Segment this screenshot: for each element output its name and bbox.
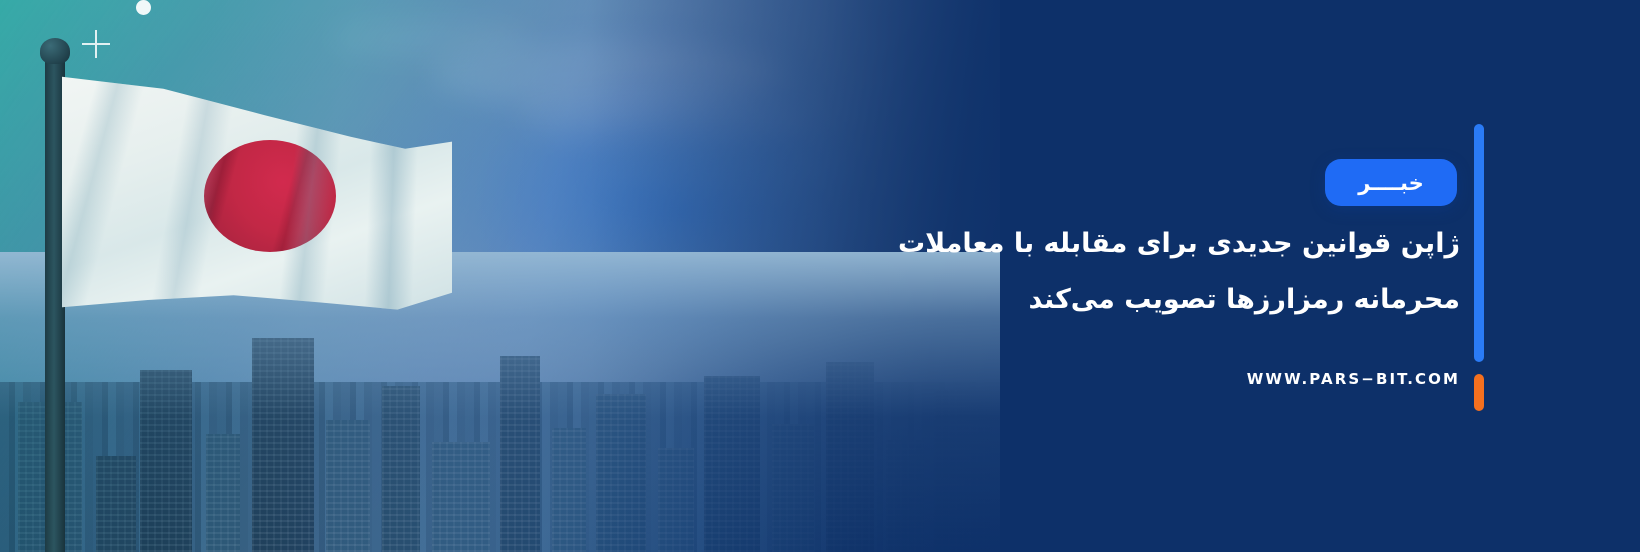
news-badge-label: خبــــر [1358,171,1423,195]
sparkle-dot-icon [136,0,151,15]
news-banner: خبــــر ژاپن قوانین جدیدی برای مقابله با… [0,0,1640,552]
page-title: ژاپن قوانین جدیدی برای مقابله با معاملات… [920,216,1460,328]
sparkle-plus-icon [82,30,110,58]
content-panel: خبــــر ژاپن قوانین جدیدی برای مقابله با… [1020,0,1640,552]
news-badge: خبــــر [1325,159,1457,206]
headline-line-2: محرمانه رمزارزها تصویب می‌کند [920,272,1460,328]
accent-bar-primary [1474,124,1484,362]
accent-bar-secondary [1474,374,1484,411]
website-url: WWW.PARS−BIT.COM [920,370,1460,388]
headline-line-1: ژاپن قوانین جدیدی برای مقابله با معاملات [920,216,1460,272]
flagpole-finial [40,38,70,64]
